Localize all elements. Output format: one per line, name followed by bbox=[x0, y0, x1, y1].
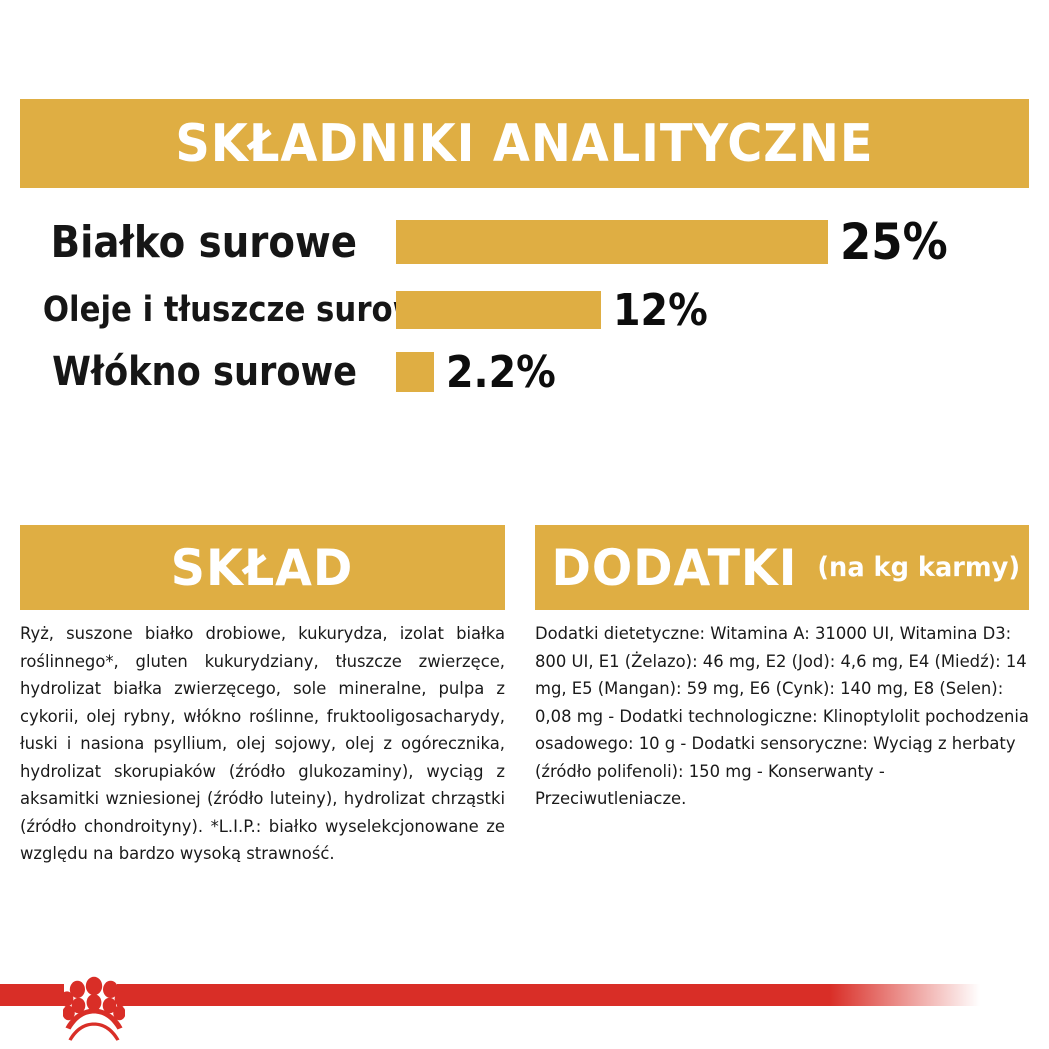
chart-bar-track: 2.2% bbox=[396, 347, 1049, 398]
chart-row: Białko surowe 25% bbox=[0, 211, 1049, 273]
footer-brand-bar bbox=[0, 975, 1049, 1049]
analytical-constituents-chart: Białko surowe 25% Oleje i tłuszcze surow… bbox=[0, 205, 1049, 400]
chart-bar bbox=[396, 220, 828, 264]
chart-row: Włókno surowe 2.2% bbox=[0, 346, 1049, 398]
chart-row: Oleje i tłuszcze surowe 12% bbox=[0, 284, 1049, 336]
additives-header: DODATKI (na kg karmy) bbox=[535, 525, 1029, 610]
composition-panel: SKŁAD Ryż, suszone białko drobiowe, kuku… bbox=[20, 525, 505, 868]
chart-bar-track: 12% bbox=[396, 285, 1049, 336]
additives-subtitle: (na kg karmy) bbox=[817, 552, 1020, 583]
footer-red-band-right bbox=[117, 984, 980, 1006]
composition-body-text: Ryż, suszone białko drobiowe, kukurydza,… bbox=[20, 620, 505, 868]
chart-bar-track: 25% bbox=[396, 213, 1049, 271]
composition-header: SKŁAD bbox=[20, 525, 505, 610]
chart-bar-label: Włókno surowe bbox=[43, 349, 357, 395]
additives-title: DODATKI bbox=[551, 539, 797, 597]
chart-bar bbox=[396, 291, 601, 329]
analytical-constituents-title: SKŁADNIKI ANALITYCZNE bbox=[175, 114, 873, 174]
chart-bar-value: 12% bbox=[613, 285, 708, 336]
footer-red-band-left bbox=[0, 984, 64, 1006]
chart-bar-label: Białko surowe bbox=[43, 217, 357, 268]
additives-panel: DODATKI (na kg karmy) Dodatki dietetyczn… bbox=[535, 525, 1029, 813]
chart-bar bbox=[396, 352, 434, 392]
royal-canin-crown-icon bbox=[63, 975, 125, 1041]
chart-bar-value: 2.2% bbox=[446, 347, 556, 398]
additives-body-text: Dodatki dietetyczne: Witamina A: 31000 U… bbox=[535, 620, 1029, 813]
composition-title: SKŁAD bbox=[171, 539, 353, 597]
chart-bar-label: Oleje i tłuszcze surowe bbox=[43, 290, 357, 330]
analytical-constituents-header: SKŁADNIKI ANALITYCZNE bbox=[20, 99, 1029, 188]
chart-bar-value: 25% bbox=[840, 213, 948, 271]
